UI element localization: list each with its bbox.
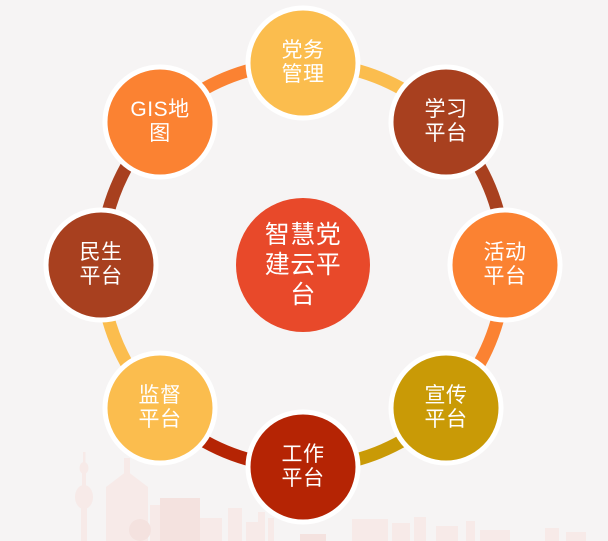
arc-party-to-learning [352,69,408,92]
node-activity-platform[interactable] [450,210,560,320]
arc-publicity-to-work [352,438,408,461]
arc-livelihood-to-gis [107,161,130,217]
arc-work-to-supervision [199,438,255,461]
arc-activity-to-publicity [476,314,499,370]
node-learning-platform[interactable] [391,67,501,177]
node-supervision-platform[interactable] [105,353,215,463]
node-work-platform[interactable] [248,412,358,522]
arc-gis-to-party [199,69,255,92]
node-publicity-platform[interactable] [391,353,501,463]
node-livelihood-platform[interactable] [46,210,156,320]
center-node-group [236,198,370,332]
arc-learning-to-activity [476,161,499,217]
arc-supervision-to-livelihood [107,314,130,370]
node-gis-map[interactable] [105,67,215,177]
diagram-canvas: 党务 管理学习 平台活动 平台宣传 平台工作 平台监督 平台民生 平台GIS地 … [0,0,608,541]
center-circle[interactable] [236,198,370,332]
node-party-affairs-management[interactable] [248,8,358,118]
